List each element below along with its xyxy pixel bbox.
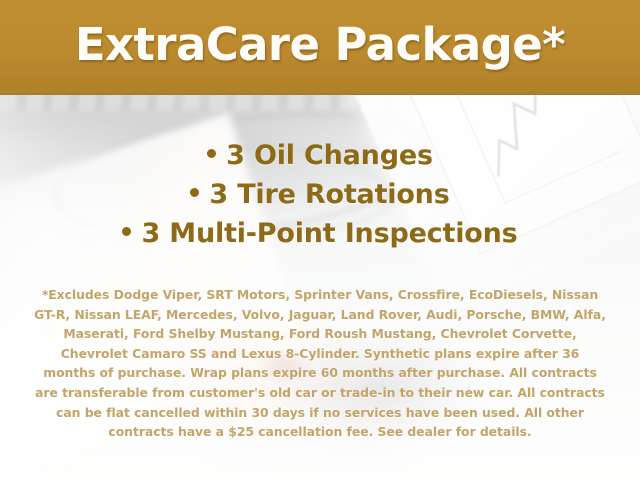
page-title: ExtraCare Package* <box>75 22 565 71</box>
list-item-label: 3 Oil Changes <box>226 140 433 171</box>
list-item-label: 3 Tire Rotations <box>209 179 449 210</box>
disclaimer-text: *Excludes Dodge Viper, SRT Motors, Sprin… <box>34 285 606 442</box>
bullet-dot-icon <box>207 149 216 158</box>
header-banner: ExtraCare Package* <box>0 0 640 95</box>
list-item: 3 Tire Rotations <box>0 175 640 214</box>
extracare-package-ad: ExtraCare Package* 3 Oil Changes 3 Tire … <box>0 0 640 480</box>
list-item-label: 3 Multi-Point Inspections <box>141 218 517 249</box>
bullet-dot-icon <box>122 227 131 236</box>
list-item: 3 Multi-Point Inspections <box>0 214 640 253</box>
benefits-list: 3 Oil Changes 3 Tire Rotations 3 Multi-P… <box>0 136 640 253</box>
list-item: 3 Oil Changes <box>0 136 640 175</box>
bullet-dot-icon <box>190 188 199 197</box>
